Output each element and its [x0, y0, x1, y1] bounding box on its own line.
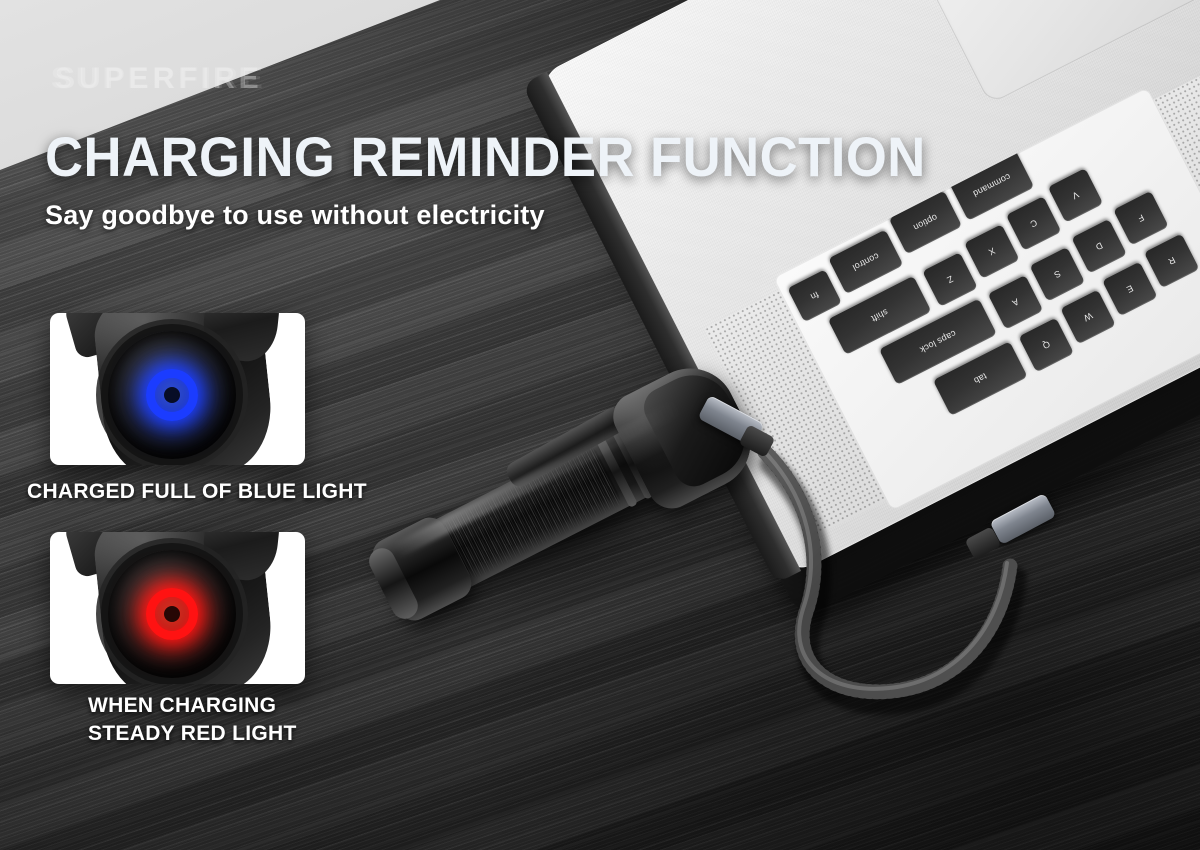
keyboard-key-a[interactable]: A: [988, 275, 1044, 330]
page-subtitle: Say goodbye to use without electricity: [45, 200, 545, 231]
keyboard-key-x[interactable]: X: [964, 224, 1020, 279]
product-feature-banner: SUPERFIRE SUPERFIRE fncontroloptioncomma…: [0, 0, 1200, 850]
tail-cap-photo-red: [50, 532, 305, 684]
keyboard-key-s[interactable]: S: [1030, 247, 1086, 302]
feature-caption-red: WHEN CHARGING STEADY RED LIGHT: [88, 692, 297, 748]
tail-cap-face-red: [108, 550, 236, 678]
blue-led-core: [164, 387, 180, 403]
feature-card-blue: [50, 313, 305, 465]
keyboard-key-c[interactable]: C: [1006, 196, 1062, 251]
red-led-core: [164, 606, 180, 622]
keyboard-key-e[interactable]: E: [1102, 262, 1158, 317]
feature-caption-blue: CHARGED FULL OF BLUE LIGHT: [27, 478, 367, 506]
keyboard-key-v[interactable]: V: [1048, 168, 1104, 223]
keyboard-key-z[interactable]: Z: [922, 252, 978, 307]
tail-cap-face-blue: [108, 331, 236, 459]
keyboard-key-f[interactable]: F: [1113, 191, 1169, 246]
keyboard-key-r[interactable]: R: [1144, 233, 1200, 288]
keyboard-key-d[interactable]: D: [1071, 219, 1127, 274]
keyboard-key-q[interactable]: Q: [1018, 318, 1074, 373]
feature-card-red: [50, 532, 305, 684]
tail-cap-photo-blue: [50, 313, 305, 465]
keyboard-key-w[interactable]: W: [1060, 290, 1116, 345]
keyboard-key-fn[interactable]: fn: [787, 269, 842, 322]
page-title: CHARGING REMINDER FUNCTION: [45, 124, 926, 189]
